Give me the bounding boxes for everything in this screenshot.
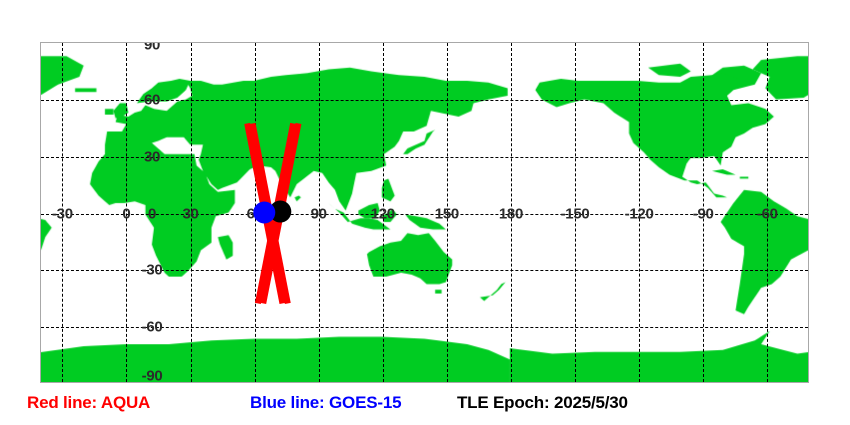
longitude-tick-label: 60 bbox=[247, 205, 263, 222]
latitude-tick-label: -90 bbox=[142, 368, 163, 384]
longitude-tick-label: 150 bbox=[435, 205, 459, 222]
latitude-tick-label: -60 bbox=[142, 319, 163, 336]
longitude-tick-label: -60 bbox=[757, 205, 778, 222]
latitude-tick-label: 30 bbox=[144, 148, 160, 165]
longitude-tick-label: -150 bbox=[561, 205, 590, 222]
legend-red-line-aqua: Red line: AQUA bbox=[27, 393, 150, 413]
longitude-tick-label: -30 bbox=[52, 205, 73, 222]
world-map-panel: -300306090120150180-150-120-90-60 906030… bbox=[40, 42, 809, 383]
longitude-tick-label: -90 bbox=[693, 205, 714, 222]
longitude-tick-label: 90 bbox=[311, 205, 327, 222]
longitude-tick-label: -120 bbox=[625, 205, 654, 222]
latitude-tick-label: -30 bbox=[142, 262, 163, 279]
longitude-tick-label: 120 bbox=[371, 205, 395, 222]
legend-tle-epoch: TLE Epoch: 2025/5/30 bbox=[457, 393, 628, 413]
legend-blue-line-goes15: Blue line: GOES-15 bbox=[250, 393, 401, 413]
map-legend: Red line: AQUA Blue line: GOES-15 TLE Ep… bbox=[0, 393, 850, 423]
latitude-tick-label: 0 bbox=[148, 205, 156, 222]
latitude-tick-label: 60 bbox=[144, 91, 160, 108]
longitude-tick-label: 30 bbox=[182, 205, 198, 222]
longitude-tick-label: 0 bbox=[122, 205, 130, 222]
longitude-tick-label: 180 bbox=[499, 205, 523, 222]
latitude-tick-label: 90 bbox=[144, 42, 160, 54]
